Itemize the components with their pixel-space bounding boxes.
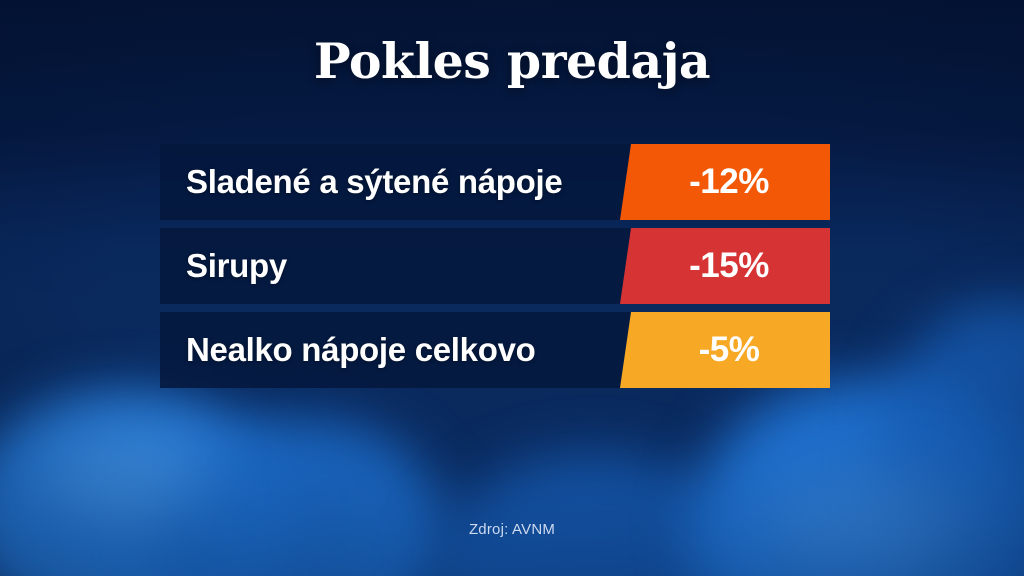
page-title: Pokles predaja [0,32,1024,90]
table-row: Sirupy -15% [160,228,830,304]
status-badge: -15% [620,228,830,304]
badge-value: -5% [699,330,760,370]
badge-value: -15% [689,246,769,286]
table-row: Nealko nápoje celkovo -5% [160,312,830,388]
row-label: Sladené a sýtené nápoje [160,163,562,201]
row-label: Nealko nápoje celkovo [160,331,536,369]
stat-rows-container: Sladené a sýtené nápoje -12% Sirupy -15%… [160,144,830,388]
row-label: Sirupy [160,247,287,285]
source-caption: Zdroj: AVNM [0,521,1024,538]
status-badge: -12% [620,144,830,220]
status-badge: -5% [620,312,830,388]
badge-value: -12% [689,162,769,202]
slide-root: Pokles predaja Sladené a sýtené nápoje -… [0,0,1024,576]
table-row: Sladené a sýtené nápoje -12% [160,144,830,220]
